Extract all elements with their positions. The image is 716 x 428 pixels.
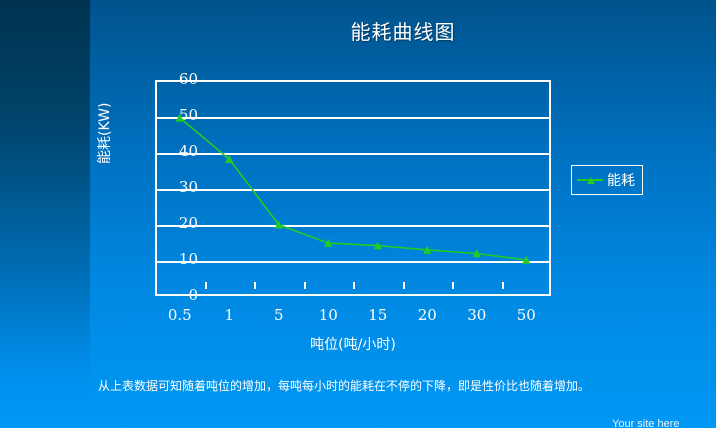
slide-caption: 从上表数据可知随着吨位的增加，每吨每小时的能耗在不停的下降，即是性价比也随着增加… [98,378,638,394]
footer-watermark: Your site here [612,418,716,428]
series-line-能耗 [100,68,660,358]
page-title: 能耗曲线图 [90,16,716,45]
legend-marker-icon [577,175,603,185]
x-axis-title: 吨位(吨/小时) [155,334,551,354]
data-point-marker [176,114,185,122]
chart-legend: 能耗 [571,165,643,195]
legend-label: 能耗 [607,170,635,190]
slide-left-band [0,0,90,428]
slide-canvas: 能耗曲线图 能耗(KW) 0102030405060 0.51510152030… [0,0,716,428]
energy-consumption-line-chart: 能耗(KW) 0102030405060 0.5151015203050 吨位(… [100,68,660,358]
